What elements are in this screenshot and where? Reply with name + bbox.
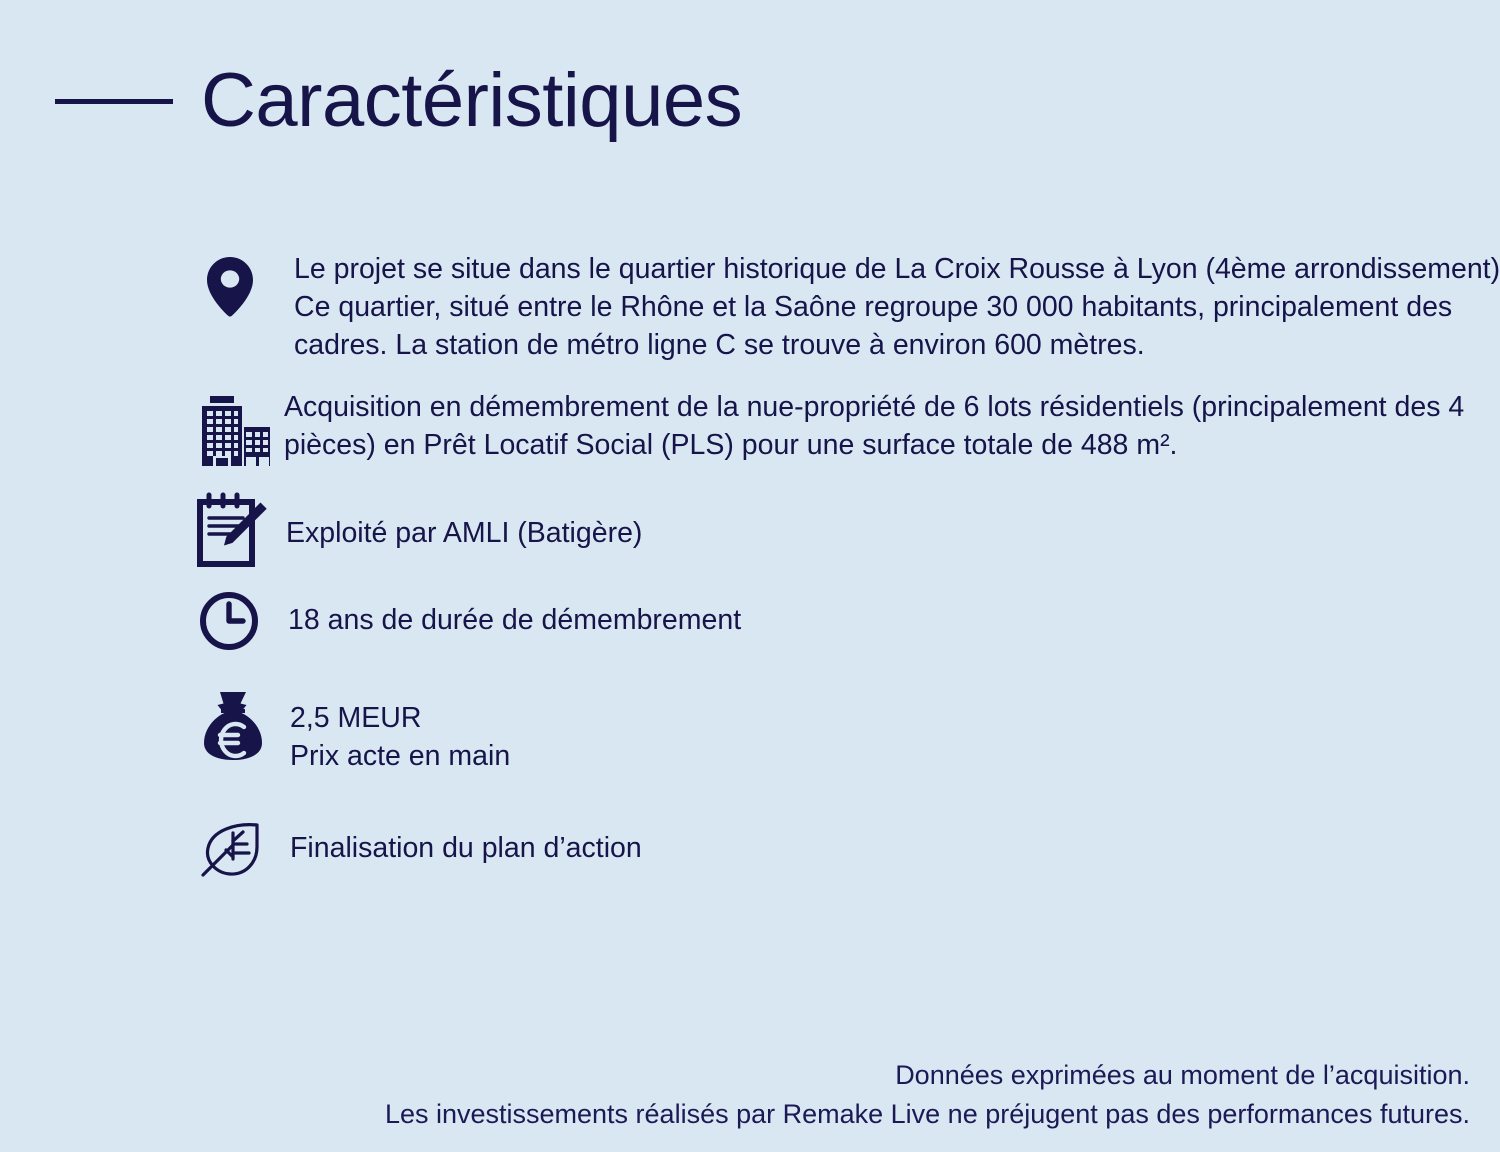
list-item: Finalisation du plan d’action [190, 819, 1500, 881]
feature-text: 18 ans de durée de démembrement [288, 590, 1500, 639]
leaf-icon [190, 819, 290, 881]
clock-icon [190, 590, 288, 652]
title-dash-icon [55, 99, 173, 104]
list-item: Exploité par AMLI (Batigère) [190, 492, 1500, 568]
feature-text: 2,5 MEUR Prix acte en main [290, 690, 1500, 775]
feature-text: Acquisition en démembrement de la nue-pr… [284, 386, 1500, 464]
feature-text: Exploité par AMLI (Batigère) [286, 492, 1500, 552]
page-title: Caractéristiques [201, 63, 742, 139]
feature-list: Le projet se situe dans le quartier hist… [190, 248, 1500, 881]
location-pin-icon [190, 248, 294, 318]
list-item: Acquisition en démembrement de la nue-pr… [190, 386, 1500, 470]
notepad-pencil-icon [190, 492, 286, 568]
page-header: Caractéristiques [0, 46, 742, 156]
disclaimer: Données exprimées au moment de l’acquisi… [385, 1056, 1470, 1134]
money-bag-euro-icon [190, 690, 290, 762]
slide-root: { "theme": { "background": "#d8e7f2", "i… [0, 0, 1500, 1152]
feature-text: Finalisation du plan d’action [290, 819, 1500, 867]
list-item: Le projet se situe dans le quartier hist… [190, 248, 1500, 364]
feature-text: Le projet se situe dans le quartier hist… [294, 248, 1500, 364]
disclaimer-line-1: Données exprimées au moment de l’acquisi… [385, 1056, 1470, 1095]
list-item: 2,5 MEUR Prix acte en main [190, 690, 1500, 775]
disclaimer-line-2: Les investissements réalisés par Remake … [385, 1095, 1470, 1134]
building-icon [190, 386, 284, 470]
list-item: 18 ans de durée de démembrement [190, 590, 1500, 652]
